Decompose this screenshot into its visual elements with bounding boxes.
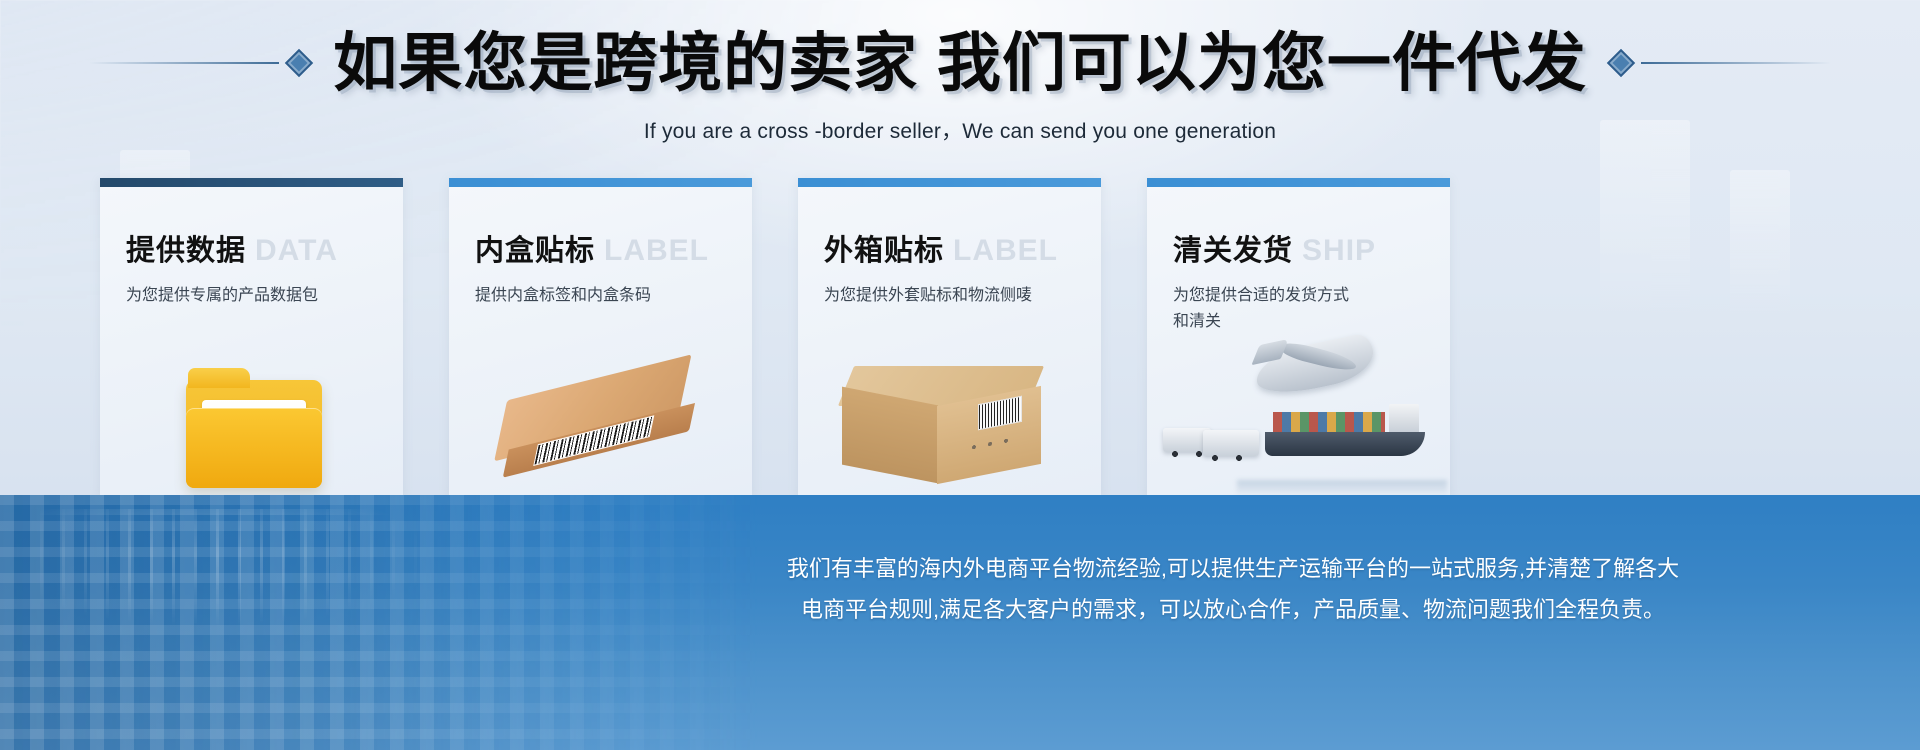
card-title-cn: 清关发货 xyxy=(1173,227,1293,269)
banner-line-2: 电商平台规则,满足各大客户的需求，可以放心合作，产品质量、物流问题我们全程负责。 xyxy=(608,590,1858,631)
page-title: 如果您是跨境的卖家 我们可以为您一件代发 xyxy=(319,30,1601,97)
card-description: 为您提供合适的发货方式 和清关 xyxy=(1173,283,1450,336)
card-artwork xyxy=(100,340,403,496)
feature-card-list: 提供数据 DATA 为您提供专属的产品数据包 内盒贴标 LABEL 提供内盒标签… xyxy=(100,178,1450,496)
card-top-bar xyxy=(100,178,403,187)
card-body: 内盒贴标 LABEL 提供内盒标签和内盒条码 xyxy=(449,187,752,309)
card-body: 外箱贴标 LABEL 为您提供外套贴标和物流侧唛 xyxy=(798,187,1101,309)
cargo-ship-icon xyxy=(1265,400,1425,456)
card-title-en: SHIP xyxy=(1302,234,1376,268)
bottom-banner: 我们有丰富的海内外电商平台物流经验,可以提供生产运输平台的一站式服务,并清楚了解… xyxy=(0,495,1920,750)
card-title-cn: 内盒贴标 xyxy=(475,227,595,269)
card-title-en: DATA xyxy=(255,234,338,268)
card-description-line-2: 和清关 xyxy=(1173,309,1434,335)
diamond-right-icon xyxy=(1607,49,1635,77)
card-title-cn: 外箱贴标 xyxy=(824,227,944,269)
feature-card-shipping[interactable]: 清关发货 SHIP 为您提供合适的发货方式 和清关 xyxy=(1147,178,1450,496)
feature-card-outer-label[interactable]: 外箱贴标 LABEL 为您提供外套贴标和物流侧唛 xyxy=(798,178,1101,496)
title-row: 如果您是跨境的卖家 我们可以为您一件代发 xyxy=(0,30,1920,97)
card-heading: 提供数据 DATA xyxy=(126,227,403,269)
banner-stage: 如果您是跨境的卖家 我们可以为您一件代发 If you are a cross … xyxy=(0,0,1920,750)
card-description-line-1: 为您提供合适的发货方式 xyxy=(1173,283,1434,309)
page-subtitle: If you are a cross -border seller，We can… xyxy=(0,115,1920,145)
card-heading: 内盒贴标 LABEL xyxy=(475,227,752,269)
flat-box-icon xyxy=(494,355,712,496)
card-description: 提供内盒标签和内盒条码 xyxy=(475,283,752,309)
banner-description: 我们有丰富的海内外电商平台物流经验,可以提供生产运输平台的一站式服务,并清楚了解… xyxy=(608,549,1858,630)
diamond-left-icon xyxy=(285,49,313,77)
title-rule-right xyxy=(1641,62,1831,64)
truck-icon xyxy=(1163,414,1275,458)
banner-line-1: 我们有丰富的海内外电商平台物流经验,可以提供生产运输平台的一站式服务,并清楚了解… xyxy=(608,549,1858,590)
card-artwork xyxy=(1147,340,1450,496)
port-crane-graphic xyxy=(40,509,600,629)
card-title-en: LABEL xyxy=(953,234,1058,268)
airplane-icon xyxy=(1252,332,1379,400)
carton-box-icon xyxy=(838,366,1058,486)
feature-card-inner-label[interactable]: 内盒贴标 LABEL 提供内盒标签和内盒条码 xyxy=(449,178,752,496)
card-heading: 外箱贴标 LABEL xyxy=(824,227,1101,269)
card-top-bar xyxy=(798,178,1101,187)
header: 如果您是跨境的卖家 我们可以为您一件代发 If you are a cross … xyxy=(0,0,1920,145)
folder-icon xyxy=(186,380,322,492)
logistics-icon xyxy=(1147,344,1450,494)
card-artwork xyxy=(798,340,1101,496)
card-top-bar xyxy=(1147,178,1450,187)
card-body: 提供数据 DATA 为您提供专属的产品数据包 xyxy=(100,187,403,309)
card-title-en: LABEL xyxy=(604,234,709,268)
feature-card-data[interactable]: 提供数据 DATA 为您提供专属的产品数据包 xyxy=(100,178,403,496)
card-description: 为您提供外套贴标和物流侧唛 xyxy=(824,283,1101,309)
title-rule-left xyxy=(89,62,279,64)
card-artwork xyxy=(449,340,752,496)
water-reflection xyxy=(1237,480,1447,496)
card-top-bar xyxy=(449,178,752,187)
card-description: 为您提供专属的产品数据包 xyxy=(126,283,403,309)
card-body: 清关发货 SHIP 为您提供合适的发货方式 和清关 xyxy=(1147,187,1450,336)
card-heading: 清关发货 SHIP xyxy=(1173,227,1450,269)
card-title-cn: 提供数据 xyxy=(126,227,246,269)
